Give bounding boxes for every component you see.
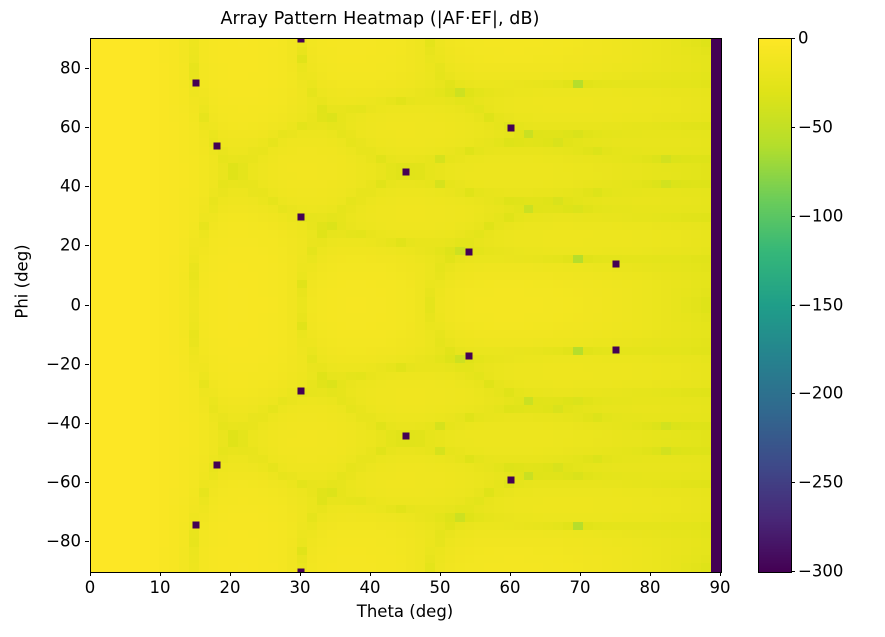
colorbar-tick-label: −200 (798, 384, 843, 403)
heatmap-image (91, 39, 721, 572)
y-tick-mark (85, 364, 89, 365)
colorbar-tick-label: −250 (798, 473, 843, 492)
x-tick-mark (370, 572, 371, 576)
x-tick-label: 40 (360, 578, 381, 597)
colorbar-tick-mark (791, 393, 795, 394)
colorbar-tick-mark (791, 38, 795, 39)
x-tick-mark (90, 572, 91, 576)
x-tick-label: 20 (220, 578, 241, 597)
y-axis-label: Phi (deg) (13, 182, 32, 382)
y-tick-mark (85, 541, 89, 542)
y-tick-label: 60 (60, 117, 81, 136)
x-tick-label: 50 (430, 578, 451, 597)
colorbar-tick-label: −100 (798, 206, 843, 225)
colorbar-tick-mark (791, 216, 795, 217)
x-tick-mark (510, 572, 511, 576)
x-tick-mark (650, 572, 651, 576)
x-tick-mark (160, 572, 161, 576)
x-tick-label: 90 (710, 578, 731, 597)
x-tick-label: 30 (290, 578, 311, 597)
y-tick-label: 20 (60, 236, 81, 255)
y-tick-label: 40 (60, 177, 81, 196)
x-tick-mark (230, 572, 231, 576)
x-tick-label: 60 (500, 578, 521, 597)
y-tick-label: −20 (46, 354, 81, 373)
colorbar-tick-label: −150 (798, 295, 843, 314)
y-tick-mark (85, 482, 89, 483)
colorbar-tick-label: −50 (798, 117, 833, 136)
colorbar-tick-mark (791, 127, 795, 128)
x-tick-label: 70 (570, 578, 591, 597)
heatmap-plot-area[interactable] (90, 38, 722, 573)
y-tick-mark (85, 423, 89, 424)
x-tick-mark (440, 572, 441, 576)
y-tick-label: 0 (71, 295, 82, 314)
colorbar-tick-mark (791, 305, 795, 306)
colorbar-tick-label: 0 (798, 29, 809, 48)
chart-title: Array Pattern Heatmap (|AF·EF|, dB) (0, 9, 760, 29)
y-tick-label: −60 (46, 473, 81, 492)
y-tick-label: −40 (46, 413, 81, 432)
y-tick-label: −80 (46, 532, 81, 551)
y-tick-mark (85, 186, 89, 187)
colorbar-tick-label: −300 (798, 562, 843, 581)
colorbar-tick-mark (791, 571, 795, 572)
x-tick-mark (580, 572, 581, 576)
colorbar-gradient (759, 39, 791, 572)
x-tick-label: 10 (150, 578, 171, 597)
x-axis-label: Theta (deg) (90, 602, 720, 621)
x-tick-label: 0 (85, 578, 96, 597)
y-tick-mark (85, 305, 89, 306)
y-tick-mark (85, 245, 89, 246)
x-tick-mark (300, 572, 301, 576)
y-tick-mark (85, 127, 89, 128)
colorbar-tick-mark (791, 482, 795, 483)
figure-canvas: Array Pattern Heatmap (|AF·EF|, dB) 0102… (0, 0, 885, 637)
y-tick-label: 80 (60, 58, 81, 77)
colorbar[interactable] (758, 38, 792, 573)
x-tick-mark (720, 572, 721, 576)
x-tick-label: 80 (640, 578, 661, 597)
y-tick-mark (85, 68, 89, 69)
